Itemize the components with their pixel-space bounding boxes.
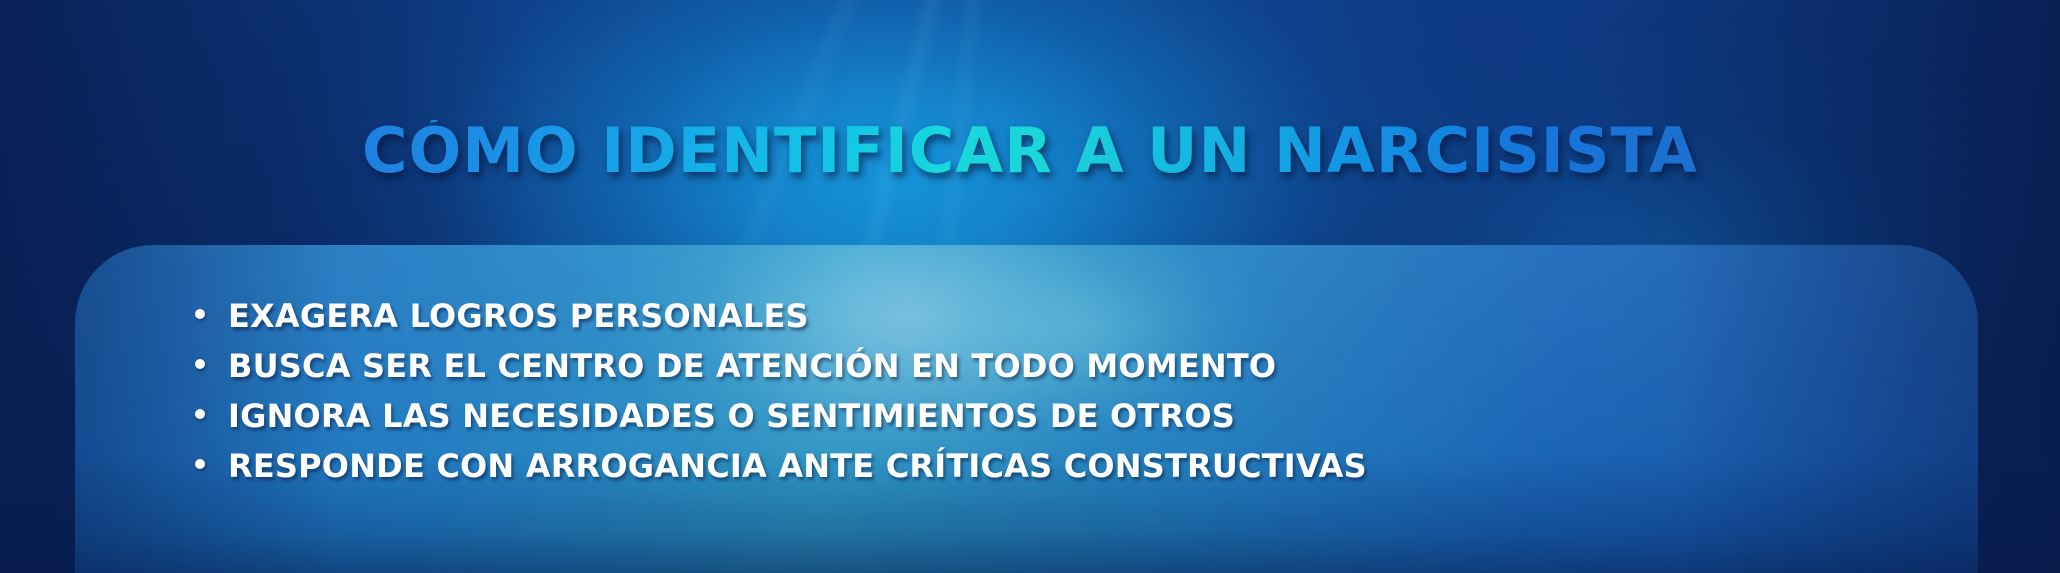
list-item-label: IGNORA LAS NECESIDADES O SENTIMIENTOS DE…: [228, 400, 1235, 432]
background-light-streaks: [680, 0, 1133, 275]
list-item: RESPONDE CON ARROGANCIA ANTE CRÍTICAS CO…: [195, 450, 1895, 500]
list-item-label: BUSCA SER EL CENTRO DE ATENCIÓN EN TODO …: [228, 350, 1276, 382]
bullet-dot-icon: [195, 359, 205, 369]
list-item: BUSCA SER EL CENTRO DE ATENCIÓN EN TODO …: [195, 350, 1895, 400]
list-item: EXAGERA LOGROS PERSONALES: [195, 300, 1895, 350]
list-item-label: RESPONDE CON ARROGANCIA ANTE CRÍTICAS CO…: [228, 450, 1367, 482]
trait-list: EXAGERA LOGROS PERSONALES BUSCA SER EL C…: [195, 300, 1895, 500]
bullet-dot-icon: [195, 409, 205, 419]
promo-banner: CÓMO IDENTIFICAR A UN NARCISISTA EXAGERA…: [0, 0, 2060, 573]
list-item-label: EXAGERA LOGROS PERSONALES: [228, 300, 809, 332]
list-item: IGNORA LAS NECESIDADES O SENTIMIENTOS DE…: [195, 400, 1895, 450]
bullet-dot-icon: [195, 459, 205, 469]
bullet-dot-icon: [195, 309, 205, 319]
